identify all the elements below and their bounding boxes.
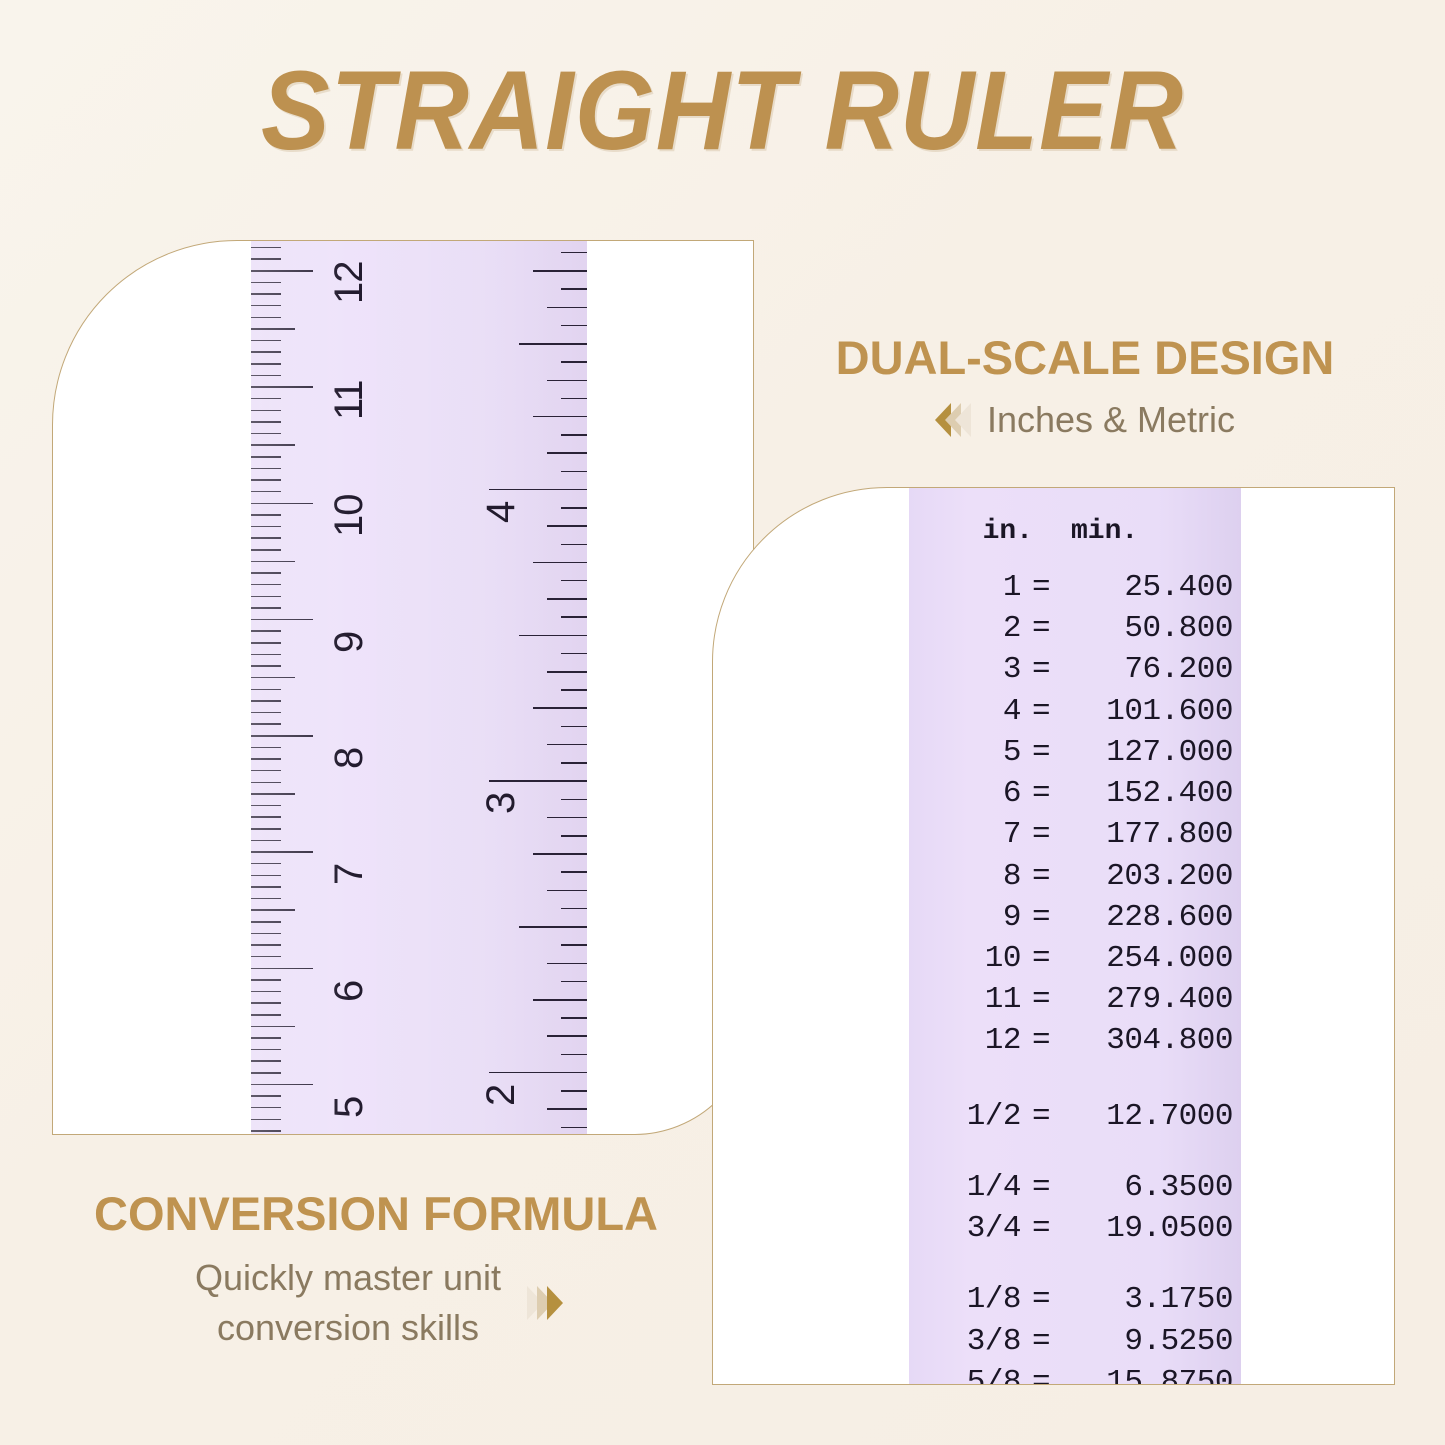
cell-inches: 7 bbox=[909, 814, 1021, 855]
cell-equals: = bbox=[1021, 1362, 1061, 1385]
dual-scale-feature: DUAL-SCALE DESIGN Inches & Metric bbox=[780, 330, 1390, 441]
cell-millimeters: 101.600 bbox=[1061, 691, 1233, 732]
ruler-tick-metric bbox=[251, 723, 281, 725]
ruler-tick-metric bbox=[251, 1072, 281, 1074]
ruler-tick-metric bbox=[251, 700, 281, 702]
ruler-tick-imperial bbox=[547, 380, 587, 382]
conversion-table-strip: in. min. 1=25.4002=50.8003=76.2004=101.6… bbox=[909, 488, 1241, 1385]
ruler-tick-metric bbox=[251, 630, 281, 632]
table-row: 7=177.800 bbox=[909, 814, 1241, 855]
cell-equals: = bbox=[1021, 814, 1061, 855]
cell-equals: = bbox=[1021, 1279, 1061, 1320]
ruler-tick-imperial bbox=[561, 507, 587, 509]
cell-millimeters: 76.200 bbox=[1061, 649, 1233, 690]
ruler-tick-metric bbox=[251, 840, 281, 842]
table-row: 4=101.600 bbox=[909, 691, 1241, 732]
table-row: 12=304.800 bbox=[909, 1020, 1241, 1061]
conversion-table-panel: in. min. 1=25.4002=50.8003=76.2004=101.6… bbox=[712, 487, 1395, 1385]
table-row: 6=152.400 bbox=[909, 773, 1241, 814]
ruler-tick-imperial bbox=[561, 799, 587, 801]
ruler-tick-imperial bbox=[533, 270, 587, 272]
page-title: STRAIGHT RULER bbox=[58, 52, 1387, 170]
ruler-image: 56789101112234 bbox=[251, 241, 587, 1135]
ruler-tick-metric bbox=[251, 747, 281, 749]
ruler-tick-metric bbox=[251, 968, 313, 970]
cell-equals: = bbox=[1021, 649, 1061, 690]
table-row: 3/8=9.5250 bbox=[909, 1321, 1241, 1362]
conversion-subtitle-line2: conversion skills bbox=[217, 1307, 479, 1348]
ruler-tick-metric bbox=[251, 735, 313, 737]
ruler-tick-metric bbox=[251, 375, 281, 377]
cell-inches: 1/4 bbox=[909, 1167, 1021, 1208]
cell-inches: 6 bbox=[909, 773, 1021, 814]
ruler-tick-imperial bbox=[561, 726, 587, 728]
cell-equals: = bbox=[1021, 1208, 1061, 1249]
cell-millimeters: 279.400 bbox=[1061, 979, 1233, 1020]
ruler-tick-metric bbox=[251, 979, 281, 981]
cell-millimeters: 203.200 bbox=[1061, 856, 1233, 897]
ruler-tick-metric bbox=[251, 619, 313, 621]
cell-inches: 9 bbox=[909, 897, 1021, 938]
ruler-panel: 56789101112234 bbox=[52, 240, 754, 1135]
cell-millimeters: 25.400 bbox=[1061, 567, 1233, 608]
ruler-tick-metric bbox=[251, 468, 281, 470]
ruler-tick-metric bbox=[251, 258, 281, 260]
chevron-right-icon bbox=[547, 1286, 563, 1320]
ruler-tick-metric bbox=[251, 921, 281, 923]
cell-equals: = bbox=[1021, 608, 1061, 649]
cell-inches: 5 bbox=[909, 732, 1021, 773]
ruler-tick-imperial bbox=[561, 653, 587, 655]
cell-inches: 3/8 bbox=[909, 1321, 1021, 1362]
ruler-tick-imperial bbox=[561, 762, 587, 764]
ruler-tick-imperial bbox=[547, 890, 587, 892]
ruler-tick-metric bbox=[251, 282, 281, 284]
ruler-tick-imperial bbox=[561, 1054, 587, 1056]
table-row: 1/2=12.7000 bbox=[909, 1096, 1241, 1137]
ruler-tick-metric bbox=[251, 642, 281, 644]
cell-inches: 10 bbox=[909, 938, 1021, 979]
ruler-label-inch: 3 bbox=[479, 793, 524, 814]
ruler-label-cm: 9 bbox=[327, 632, 372, 653]
ruler-tick-metric bbox=[251, 991, 281, 993]
ruler-tick-metric bbox=[251, 503, 313, 505]
ruler-tick-metric bbox=[251, 549, 281, 551]
ruler-tick-metric bbox=[251, 1049, 281, 1051]
table-row: 1=25.400 bbox=[909, 567, 1241, 608]
ruler-label-cm: 7 bbox=[327, 864, 372, 885]
ruler-tick-imperial bbox=[547, 598, 587, 600]
quarter-inch-rows: 1/4=6.35003/4=19.0500 bbox=[909, 1167, 1241, 1249]
cell-equals: = bbox=[1021, 897, 1061, 938]
ruler-tick-metric bbox=[251, 572, 281, 574]
ruler-tick-imperial bbox=[547, 671, 587, 673]
ruler-tick-metric bbox=[251, 898, 281, 900]
cell-millimeters: 177.800 bbox=[1061, 814, 1233, 855]
ruler-tick-metric bbox=[251, 1084, 313, 1086]
ruler-tick-metric bbox=[251, 584, 281, 586]
table-header-row: in. min. bbox=[909, 516, 1241, 547]
cell-millimeters: 50.800 bbox=[1061, 608, 1233, 649]
ruler-tick-imperial bbox=[561, 361, 587, 363]
table-row: 5=127.000 bbox=[909, 732, 1241, 773]
cell-equals: = bbox=[1021, 1167, 1061, 1208]
ruler-tick-metric bbox=[251, 677, 295, 679]
ruler-tick-imperial bbox=[561, 1127, 587, 1129]
cell-millimeters: 228.600 bbox=[1061, 897, 1233, 938]
ruler-tick-imperial bbox=[561, 252, 587, 254]
ruler-tick-imperial bbox=[561, 908, 587, 910]
conversion-formula-subtitle: Quickly master unit conversion skills bbox=[195, 1253, 501, 1354]
ruler-tick-imperial bbox=[561, 835, 587, 837]
ruler-tick-metric bbox=[251, 596, 281, 598]
ruler-tick-imperial bbox=[533, 853, 587, 855]
ruler-tick-imperial bbox=[489, 489, 587, 491]
cell-equals: = bbox=[1021, 938, 1061, 979]
cell-inches: 3/4 bbox=[909, 1208, 1021, 1249]
ruler-tick-imperial bbox=[533, 562, 587, 564]
eighth-inch-rows: 1/8=3.17503/8=9.52505/8=15.87507/8=22.22… bbox=[909, 1279, 1241, 1385]
chevron-right-group bbox=[527, 1286, 557, 1320]
table-row: 9=228.600 bbox=[909, 897, 1241, 938]
header-inches: in. bbox=[909, 516, 1033, 547]
ruler-tick-metric bbox=[251, 410, 281, 412]
ruler-tick-metric bbox=[251, 561, 295, 563]
table-row: 5/8=15.8750 bbox=[909, 1362, 1241, 1385]
ruler-tick-metric bbox=[251, 805, 281, 807]
ruler-tick-metric bbox=[251, 689, 281, 691]
ruler-label-cm: 10 bbox=[327, 494, 372, 537]
ruler-tick-imperial bbox=[489, 1072, 587, 1074]
ruler-label-cm: 5 bbox=[327, 1096, 372, 1117]
chevron-left-group bbox=[935, 403, 965, 437]
cell-inches: 5/8 bbox=[909, 1362, 1021, 1385]
ruler-tick-metric bbox=[251, 851, 313, 853]
ruler-tick-metric bbox=[251, 1002, 281, 1004]
ruler-tick-imperial bbox=[547, 963, 587, 965]
cell-equals: = bbox=[1021, 979, 1061, 1020]
table-row: 2=50.800 bbox=[909, 608, 1241, 649]
cell-equals: = bbox=[1021, 856, 1061, 897]
ruler-tick-metric bbox=[251, 1130, 281, 1132]
ruler-tick-imperial bbox=[561, 471, 587, 473]
cell-inches: 11 bbox=[909, 979, 1021, 1020]
ruler-tick-metric bbox=[251, 398, 281, 400]
header-spacer bbox=[1033, 516, 1049, 547]
cell-millimeters: 12.7000 bbox=[1061, 1096, 1233, 1137]
cell-millimeters: 6.3500 bbox=[1061, 1167, 1233, 1208]
cell-equals: = bbox=[1021, 1321, 1061, 1362]
cell-millimeters: 15.8750 bbox=[1061, 1362, 1233, 1385]
cell-inches: 3 bbox=[909, 649, 1021, 690]
ruler-tick-metric bbox=[251, 1026, 295, 1028]
cell-inches: 1/8 bbox=[909, 1279, 1021, 1320]
cell-equals: = bbox=[1021, 732, 1061, 773]
table-row: 3=76.200 bbox=[909, 649, 1241, 690]
ruler-tick-imperial bbox=[533, 707, 587, 709]
cell-inches: 1 bbox=[909, 567, 1021, 608]
ruler-tick-metric bbox=[251, 1107, 281, 1109]
ruler-tick-metric bbox=[251, 758, 281, 760]
ruler-tick-imperial bbox=[519, 343, 587, 345]
table-row: 11=279.400 bbox=[909, 979, 1241, 1020]
conversion-subtitle-line1: Quickly master unit bbox=[195, 1257, 501, 1298]
cell-equals: = bbox=[1021, 1020, 1061, 1061]
ruler-tick-metric bbox=[251, 665, 281, 667]
ruler-tick-metric bbox=[251, 363, 281, 365]
ruler-tick-metric bbox=[251, 654, 281, 656]
conversion-formula-heading: CONVERSION FORMULA bbox=[46, 1186, 706, 1241]
ruler-label-cm: 6 bbox=[327, 980, 372, 1001]
row-gap bbox=[909, 1062, 1241, 1096]
ruler-tick-metric bbox=[251, 293, 281, 295]
cell-millimeters: 304.800 bbox=[1061, 1020, 1233, 1061]
ruler-label-inch: 2 bbox=[479, 1085, 524, 1106]
ruler-tick-imperial bbox=[561, 580, 587, 582]
ruler-tick-metric bbox=[251, 712, 281, 714]
cell-millimeters: 127.000 bbox=[1061, 732, 1233, 773]
ruler-tick-metric bbox=[251, 351, 281, 353]
ruler-tick-imperial bbox=[561, 544, 587, 546]
ruler-tick-metric bbox=[251, 270, 313, 272]
ruler-tick-imperial bbox=[547, 817, 587, 819]
ruler-tick-metric bbox=[251, 317, 281, 319]
ruler-tick-metric bbox=[251, 607, 281, 609]
cell-equals: = bbox=[1021, 567, 1061, 608]
chevron-left-icon bbox=[955, 403, 971, 437]
ruler-tick-imperial bbox=[561, 325, 587, 327]
cell-millimeters: 254.000 bbox=[1061, 938, 1233, 979]
ruler-tick-metric bbox=[251, 782, 281, 784]
cell-millimeters: 9.5250 bbox=[1061, 1321, 1233, 1362]
ruler-tick-imperial bbox=[547, 1108, 587, 1110]
ruler-tick-metric bbox=[251, 863, 281, 865]
cell-inches: 4 bbox=[909, 691, 1021, 732]
ruler-tick-imperial bbox=[519, 926, 587, 928]
cell-equals: = bbox=[1021, 691, 1061, 732]
ruler-tick-metric bbox=[251, 305, 281, 307]
ruler-tick-imperial bbox=[561, 288, 587, 290]
row-gap bbox=[909, 1249, 1241, 1279]
ruler-tick-imperial bbox=[561, 944, 587, 946]
ruler-tick-imperial bbox=[547, 744, 587, 746]
ruler-tick-imperial bbox=[547, 1035, 587, 1037]
ruler-tick-metric bbox=[251, 491, 281, 493]
ruler-tick-imperial bbox=[489, 780, 587, 782]
ruler-tick-metric bbox=[251, 340, 281, 342]
half-inch-rows: 1/2=12.7000 bbox=[909, 1096, 1241, 1137]
ruler-tick-metric bbox=[251, 956, 281, 958]
header-millimeters: min. bbox=[1049, 516, 1225, 547]
ruler-tick-imperial bbox=[547, 307, 587, 309]
ruler-tick-metric bbox=[251, 828, 281, 830]
cell-inches: 12 bbox=[909, 1020, 1021, 1061]
ruler-tick-metric bbox=[251, 1060, 281, 1062]
ruler-tick-metric bbox=[251, 909, 295, 911]
table-row: 3/4=19.0500 bbox=[909, 1208, 1241, 1249]
conversion-formula-feature: CONVERSION FORMULA Quickly master unit c… bbox=[46, 1186, 706, 1354]
row-gap bbox=[909, 1137, 1241, 1167]
ruler-tick-metric bbox=[251, 933, 281, 935]
ruler-tick-imperial bbox=[561, 1090, 587, 1092]
ruler-tick-metric bbox=[251, 816, 281, 818]
ruler-tick-metric bbox=[251, 526, 281, 528]
ruler-tick-metric bbox=[251, 1095, 281, 1097]
dual-scale-heading: DUAL-SCALE DESIGN bbox=[780, 330, 1390, 385]
ruler-tick-imperial bbox=[561, 434, 587, 436]
ruler-tick-imperial bbox=[561, 981, 587, 983]
ruler-tick-metric bbox=[251, 537, 281, 539]
cell-millimeters: 152.400 bbox=[1061, 773, 1233, 814]
cell-inches: 8 bbox=[909, 856, 1021, 897]
ruler-tick-metric bbox=[251, 1014, 281, 1016]
ruler-tick-metric bbox=[251, 770, 281, 772]
ruler-tick-metric bbox=[251, 875, 281, 877]
ruler-tick-imperial bbox=[561, 398, 587, 400]
ruler-tick-imperial bbox=[561, 616, 587, 618]
table-row: 1/4=6.3500 bbox=[909, 1167, 1241, 1208]
ruler-tick-imperial bbox=[547, 452, 587, 454]
ruler-tick-metric bbox=[251, 386, 313, 388]
table-row: 8=203.200 bbox=[909, 856, 1241, 897]
dual-scale-subtitle: Inches & Metric bbox=[987, 399, 1235, 441]
ruler-tick-imperial bbox=[547, 525, 587, 527]
cell-equals: = bbox=[1021, 773, 1061, 814]
cell-millimeters: 19.0500 bbox=[1061, 1208, 1233, 1249]
ruler-label-inch: 4 bbox=[479, 502, 524, 523]
ruler-tick-imperial bbox=[561, 1017, 587, 1019]
cell-equals: = bbox=[1021, 1096, 1061, 1137]
ruler-tick-metric bbox=[251, 247, 281, 249]
ruler-label-cm: 8 bbox=[327, 748, 372, 769]
ruler-tick-imperial bbox=[533, 999, 587, 1001]
ruler-tick-metric bbox=[251, 1037, 281, 1039]
ruler-tick-metric bbox=[251, 444, 295, 446]
ruler-tick-imperial bbox=[519, 635, 587, 637]
whole-inch-rows: 1=25.4002=50.8003=76.2004=101.6005=127.0… bbox=[909, 567, 1241, 1062]
conversion-table: in. min. 1=25.4002=50.8003=76.2004=101.6… bbox=[909, 516, 1241, 1385]
cell-millimeters: 3.1750 bbox=[1061, 1279, 1233, 1320]
ruler-tick-metric bbox=[251, 328, 295, 330]
table-row: 10=254.000 bbox=[909, 938, 1241, 979]
ruler-tick-metric bbox=[251, 886, 281, 888]
infographic-page: STRAIGHT RULER 56789101112234 in. min. 1… bbox=[0, 0, 1445, 1445]
ruler-tick-metric bbox=[251, 433, 281, 435]
ruler-tick-metric bbox=[251, 793, 295, 795]
ruler-tick-imperial bbox=[561, 689, 587, 691]
ruler-label-cm: 12 bbox=[327, 262, 372, 305]
ruler-tick-metric bbox=[251, 1119, 281, 1121]
ruler-tick-imperial bbox=[533, 416, 587, 418]
ruler-tick-metric bbox=[251, 456, 281, 458]
ruler-tick-metric bbox=[251, 479, 281, 481]
ruler-label-cm: 11 bbox=[327, 381, 372, 421]
ruler-tick-metric bbox=[251, 514, 281, 516]
cell-inches: 1/2 bbox=[909, 1096, 1021, 1137]
ruler-tick-metric bbox=[251, 944, 281, 946]
ruler-tick-imperial bbox=[561, 871, 587, 873]
table-row: 1/8=3.1750 bbox=[909, 1279, 1241, 1320]
ruler-tick-metric bbox=[251, 421, 281, 423]
cell-inches: 2 bbox=[909, 608, 1021, 649]
